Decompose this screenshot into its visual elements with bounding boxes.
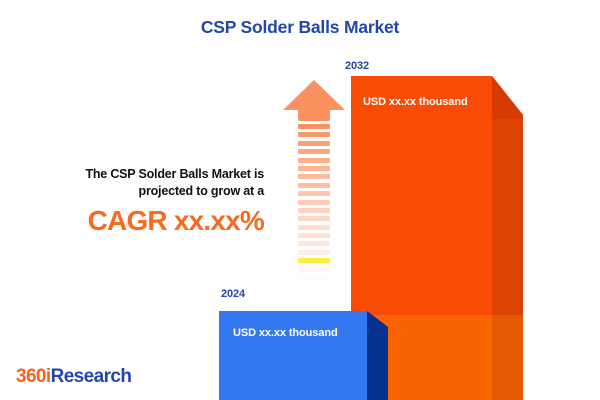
cagr-value: CAGR xx.xx% [42,206,264,235]
caption-lead: The CSP Solder Balls Market is projected… [42,166,264,199]
bar-forecast-side-face-lower [492,315,523,400]
caption-lead-line-1: The CSP Solder Balls Market is [85,167,264,181]
cagr-caption: The CSP Solder Balls Market is projected… [42,166,264,236]
caption-lead-line-2: projected to grow at a [139,184,264,198]
brand-logo[interactable]: 360iResearch [16,366,131,388]
bar-value-forecast-year: USD xx.xx thousand [363,96,493,108]
market-infographic: CSP Solder Balls Market 2032 USD xx.xx t… [0,0,600,400]
logo-prefix: 360i [16,366,51,387]
bar-label-base-year: 2024 [221,288,245,300]
bar-label-forecast-year: 2032 [345,60,369,72]
logo-suffix: Research [51,366,132,387]
bar-value-base-year: USD xx.xx thousand [233,327,373,339]
bar-base-front-face [219,311,367,400]
